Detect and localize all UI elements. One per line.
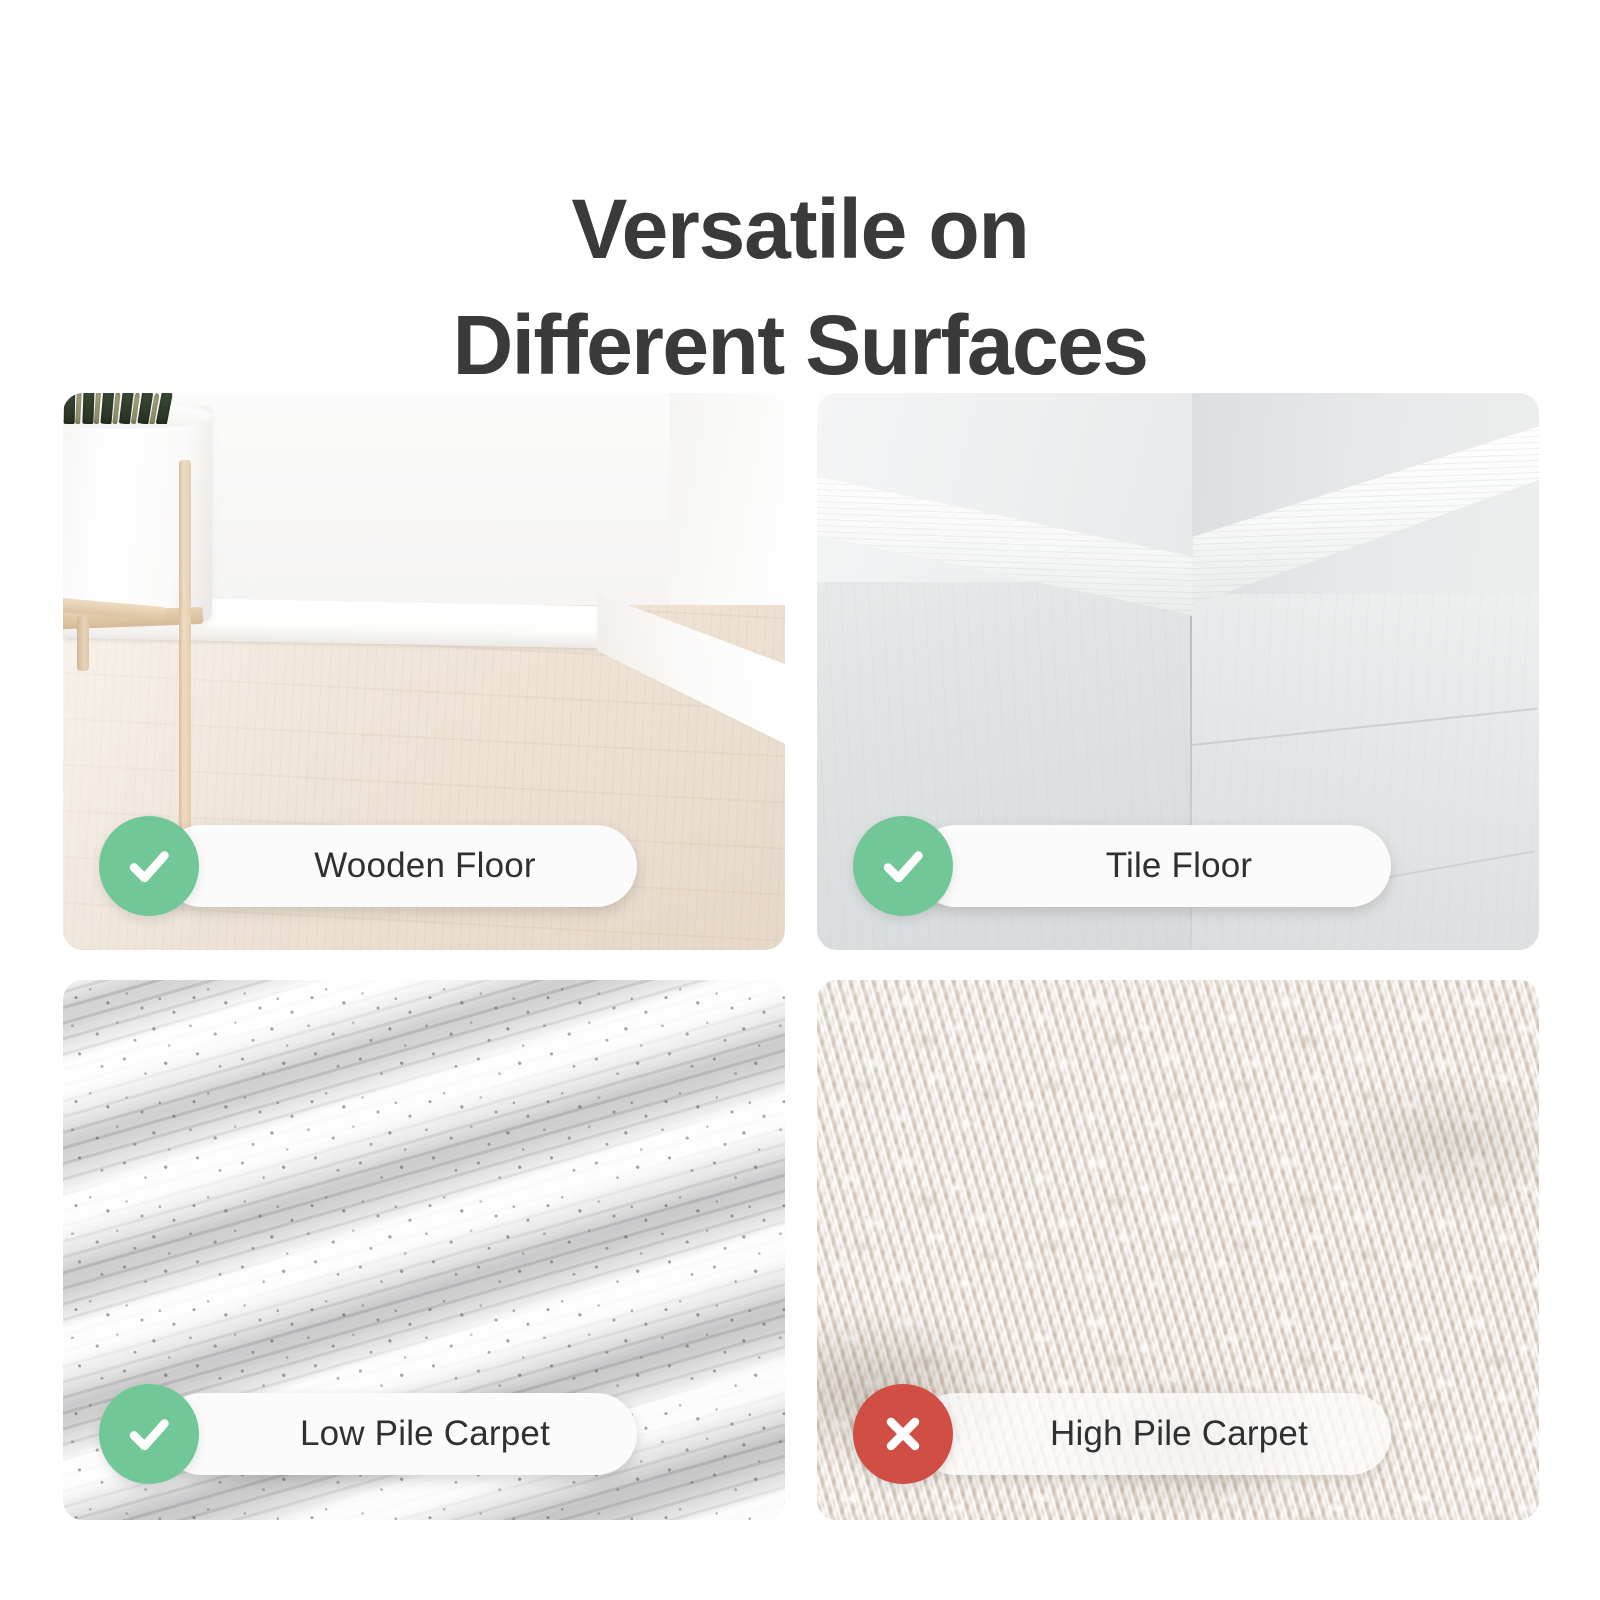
page-title: Versatile on Different Surfaces [0,172,1600,404]
surface-label-high-pile-carpet: High Pile Carpet [1050,1414,1308,1454]
page-title-line-2: Different Surfaces [0,288,1600,404]
surface-grid: Wooden Floor [63,393,1537,1520]
snake-plant [63,393,200,424]
surface-card-low-pile-carpet[interactable]: Low Pile Carpet [63,980,785,1520]
infographic-page: Versatile on Different Surfaces [0,0,1600,1600]
surface-label-tile-floor: Tile Floor [1106,846,1253,886]
surface-tag-low-pile-carpet: Low Pile Carpet [99,1384,199,1484]
surface-pill-wooden-floor: Wooden Floor [161,825,637,907]
surface-tag-high-pile-carpet: High Pile Carpet [853,1384,953,1484]
surface-tag-tile-floor: Tile Floor [853,816,953,916]
surface-card-high-pile-carpet[interactable]: High Pile Carpet [817,980,1539,1520]
surface-card-tile-floor[interactable]: Tile Floor [817,393,1539,950]
surface-label-wooden-floor: Wooden Floor [314,846,536,886]
check-icon [99,1384,199,1484]
surface-tag-wooden-floor: Wooden Floor [99,816,199,916]
surface-pill-tile-floor: Tile Floor [915,825,1391,907]
page-title-line-1: Versatile on [0,172,1600,288]
surface-pill-high-pile-carpet: High Pile Carpet [915,1393,1391,1475]
check-icon [99,816,199,916]
surface-pill-low-pile-carpet: Low Pile Carpet [161,1393,637,1475]
surface-label-low-pile-carpet: Low Pile Carpet [300,1414,550,1454]
cross-icon [853,1384,953,1484]
surface-card-wooden-floor[interactable]: Wooden Floor [63,393,785,950]
check-icon [853,816,953,916]
